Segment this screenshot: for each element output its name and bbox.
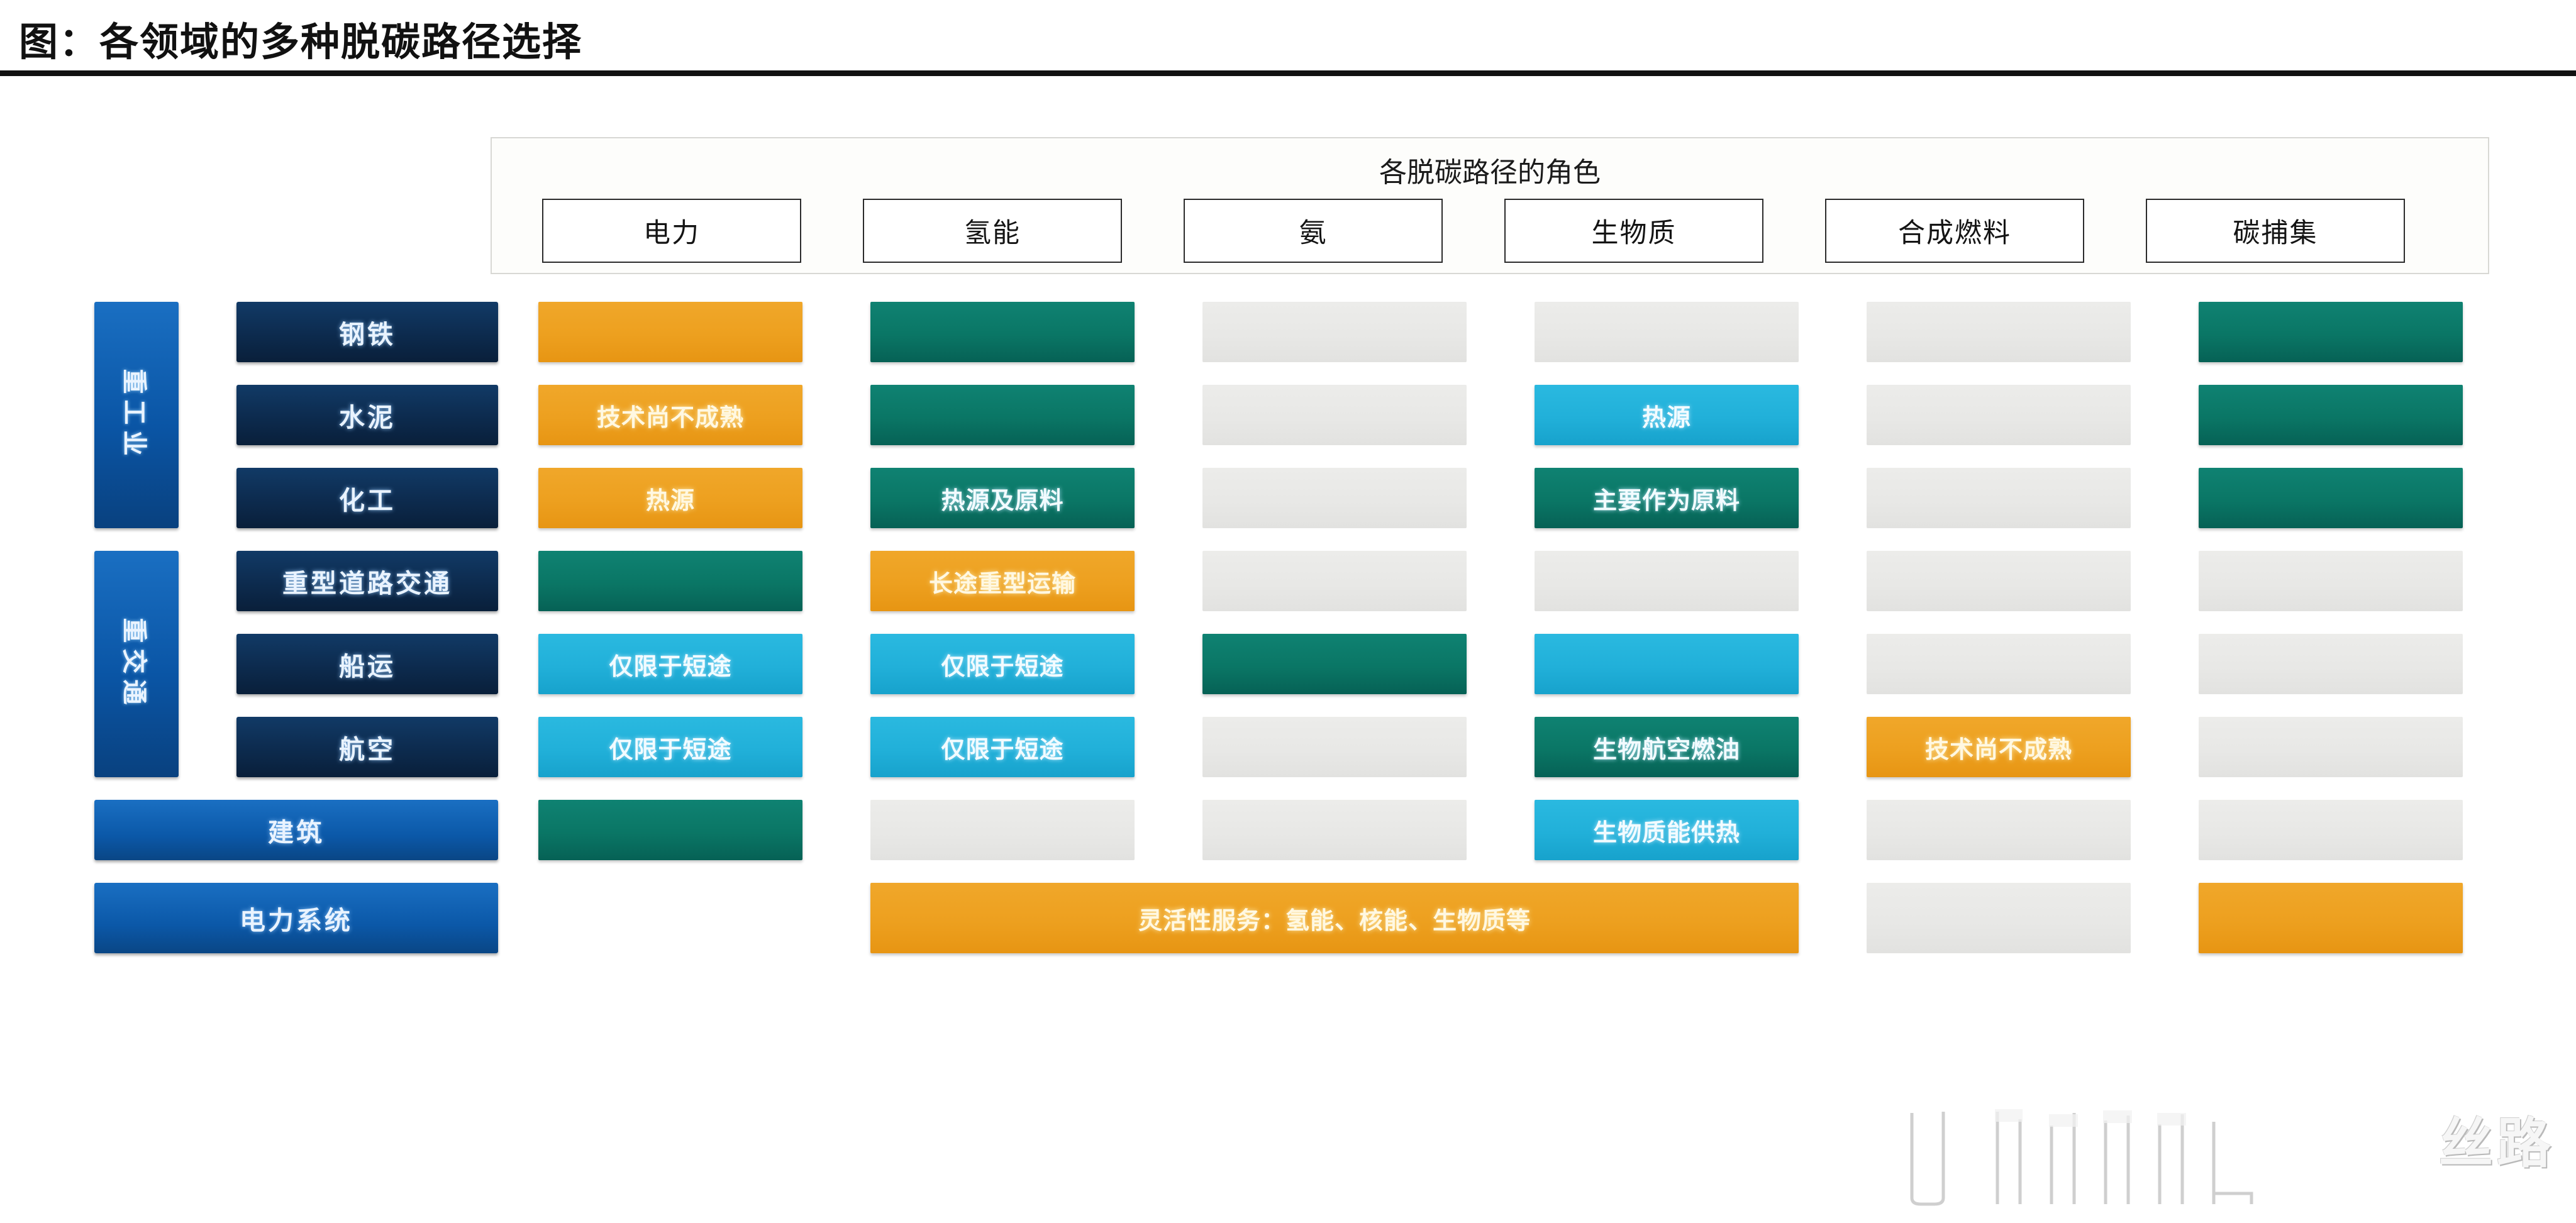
matrix-cell-label: 热源 — [1642, 398, 1691, 433]
matrix-cell[interactable] — [1867, 302, 2131, 362]
matrix-cell-label: 仅限于短途 — [609, 730, 731, 765]
row-label-text: 重型道路交通 — [282, 562, 452, 600]
matrix-cell[interactable]: 技术尚不成熟 — [538, 385, 802, 445]
matrix-cell-label: 热源及原料 — [941, 481, 1063, 516]
matrix-cell[interactable] — [538, 800, 802, 860]
row-label-text: 电力系统 — [240, 899, 353, 937]
matrix-cell[interactable] — [1867, 634, 2131, 694]
matrix-cell-label: 长途重型运输 — [929, 564, 1076, 599]
column-header-label: 碳捕集 — [2233, 211, 2318, 250]
matrix-cell-label: 灵活性服务：氢能、核能、生物质等 — [1138, 901, 1531, 936]
column-header-2[interactable]: 氢能 — [863, 199, 1122, 263]
matrix-cell[interactable] — [1867, 551, 2131, 611]
matrix-cell[interactable] — [2199, 717, 2463, 777]
matrix-cell[interactable]: 灵活性服务：氢能、核能、生物质等 — [870, 883, 1799, 953]
matrix-cell-label: 仅限于短途 — [609, 647, 731, 682]
column-header-1[interactable]: 电力 — [542, 199, 801, 263]
row-label-7[interactable]: 建筑 — [94, 800, 498, 860]
column-header-3[interactable]: 氨 — [1184, 199, 1443, 263]
matrix-cell[interactable]: 热源 — [538, 468, 802, 528]
group-label-text: 重工业 — [118, 369, 155, 462]
matrix-cell[interactable]: 生物质能供热 — [1535, 800, 1799, 860]
title-divider — [0, 70, 2576, 76]
matrix-cell-label: 技术尚不成熟 — [1925, 730, 2072, 765]
matrix-cell[interactable] — [2199, 468, 2463, 528]
matrix-cell[interactable] — [870, 385, 1135, 445]
matrix-cell[interactable]: 仅限于短途 — [870, 634, 1135, 694]
matrix-cell[interactable] — [538, 551, 802, 611]
row-label-text: 建筑 — [268, 811, 325, 849]
matrix-cell[interactable] — [1202, 634, 1467, 694]
matrix-cell[interactable] — [538, 302, 802, 362]
matrix-cell-label: 热源 — [646, 481, 695, 516]
matrix-cell[interactable] — [1867, 468, 2131, 528]
row-label-text: 船运 — [339, 645, 396, 683]
row-label-text: 航空 — [339, 728, 396, 766]
matrix-cell[interactable] — [1202, 385, 1467, 445]
matrix-cell[interactable]: 仅限于短途 — [538, 717, 802, 777]
title-bar: 图：各领域的多种脱碳路径选择 — [0, 0, 2576, 80]
column-header-4[interactable]: 生物质 — [1504, 199, 1763, 263]
row-label-8[interactable]: 电力系统 — [94, 883, 498, 953]
matrix-cell[interactable] — [1535, 551, 1799, 611]
matrix-cell[interactable] — [2199, 883, 2463, 953]
matrix-cell[interactable]: 生物航空燃油 — [1535, 717, 1799, 777]
group-label-text: 重交通 — [118, 618, 155, 711]
group-label-2: 重交通 — [94, 551, 179, 777]
matrix-cell[interactable] — [2199, 385, 2463, 445]
pathway-header-title: 各脱碳路径的角色 — [492, 150, 2488, 190]
matrix-cell[interactable] — [870, 302, 1135, 362]
matrix-cell[interactable]: 仅限于短途 — [870, 717, 1135, 777]
column-header-label: 氢能 — [964, 211, 1021, 250]
matrix-cell[interactable] — [1535, 302, 1799, 362]
matrix-cell[interactable] — [1867, 800, 2131, 860]
matrix-cell[interactable]: 热源 — [1535, 385, 1799, 445]
column-header-label: 电力 — [643, 211, 700, 250]
matrix-cell[interactable] — [870, 800, 1135, 860]
column-header-label: 氨 — [1299, 211, 1328, 250]
matrix-cell[interactable] — [1535, 634, 1799, 694]
row-label-text: 化工 — [339, 479, 396, 517]
row-label-5[interactable]: 船运 — [236, 634, 498, 694]
matrix-cell[interactable]: 热源及原料 — [870, 468, 1135, 528]
column-header-label: 生物质 — [1592, 211, 1677, 250]
column-header-label: 合成燃料 — [1898, 211, 2011, 250]
row-label-1[interactable]: 钢铁 — [236, 302, 498, 362]
decarbonization-matrix: 重工业重交通钢铁水泥化工重型道路交通船运航空建筑电力系统技术尚不成熟热源热源热源… — [0, 296, 2576, 1188]
matrix-cell-label: 仅限于短途 — [941, 730, 1063, 765]
row-label-3[interactable]: 化工 — [236, 468, 498, 528]
matrix-cell[interactable]: 技术尚不成熟 — [1867, 717, 2131, 777]
matrix-cell[interactable] — [1867, 883, 2131, 953]
matrix-cell[interactable] — [1867, 385, 2131, 445]
matrix-cell-label: 技术尚不成熟 — [597, 398, 744, 433]
matrix-cell[interactable]: 仅限于短途 — [538, 634, 802, 694]
matrix-cell[interactable] — [2199, 634, 2463, 694]
matrix-cell-label: 生物质能供热 — [1593, 813, 1740, 848]
matrix-cell[interactable] — [1202, 551, 1467, 611]
matrix-cell-label: 主要作为原料 — [1593, 481, 1740, 516]
matrix-cell[interactable] — [1202, 800, 1467, 860]
group-label-1: 重工业 — [94, 302, 179, 528]
matrix-cell[interactable]: 主要作为原料 — [1535, 468, 1799, 528]
row-label-text: 水泥 — [339, 396, 396, 434]
matrix-cell-label: 仅限于短途 — [941, 647, 1063, 682]
column-header-6[interactable]: 碳捕集 — [2146, 199, 2405, 263]
row-label-4[interactable]: 重型道路交通 — [236, 551, 498, 611]
matrix-cell[interactable] — [1202, 302, 1467, 362]
row-label-2[interactable]: 水泥 — [236, 385, 498, 445]
matrix-cell-label: 生物航空燃油 — [1593, 730, 1740, 765]
row-label-text: 钢铁 — [339, 313, 396, 351]
matrix-cell[interactable] — [2199, 800, 2463, 860]
page-title: 图：各领域的多种脱碳路径选择 — [19, 10, 582, 67]
matrix-cell[interactable] — [1202, 717, 1467, 777]
matrix-cell[interactable]: 长途重型运输 — [870, 551, 1135, 611]
column-header-row: 电力氢能氨生物质合成燃料碳捕集 — [542, 199, 2441, 263]
matrix-cell[interactable] — [1202, 468, 1467, 528]
matrix-cell[interactable] — [2199, 551, 2463, 611]
pathway-header-panel: 各脱碳路径的角色 电力氢能氨生物质合成燃料碳捕集 — [491, 137, 2489, 274]
matrix-cell[interactable] — [2199, 302, 2463, 362]
column-header-5[interactable]: 合成燃料 — [1825, 199, 2084, 263]
row-label-6[interactable]: 航空 — [236, 717, 498, 777]
